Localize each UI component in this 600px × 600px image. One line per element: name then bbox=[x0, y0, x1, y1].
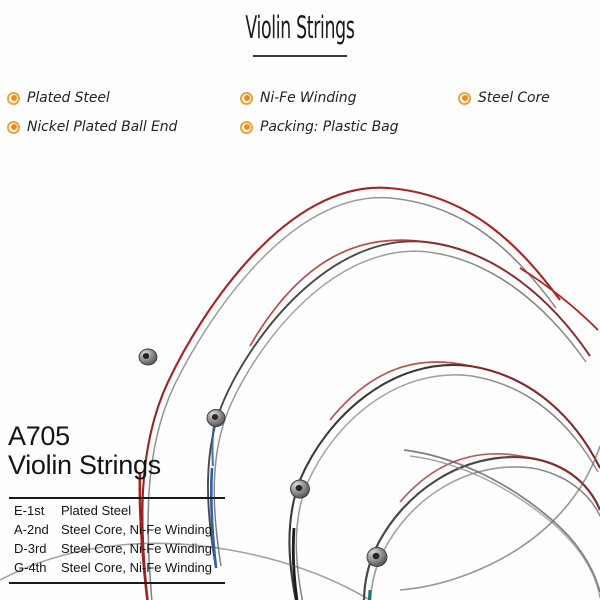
feature-label: Plated Steel bbox=[27, 90, 110, 106]
feature-label: Steel Core bbox=[478, 90, 550, 106]
title-block: Violin Strings bbox=[0, 10, 600, 57]
feature-list: Plated Steel Nickel Plated Ball End Ni-F… bbox=[0, 86, 600, 142]
table-row: E-1st Plated Steel bbox=[9, 503, 225, 522]
model-name: Violin Strings bbox=[8, 451, 161, 481]
model-block: A705 Violin Strings bbox=[8, 422, 161, 480]
list-item: Steel Core bbox=[458, 86, 550, 110]
string-coil-d bbox=[289, 362, 600, 600]
feature-column-1: Plated Steel Nickel Plated Ball End bbox=[7, 86, 177, 144]
model-code: A705 bbox=[8, 422, 161, 451]
spec-gauge: G-4th bbox=[9, 560, 61, 575]
list-item: Plated Steel bbox=[7, 86, 177, 110]
spec-gauge: E-1st bbox=[9, 503, 61, 518]
ball-end-a bbox=[207, 410, 225, 427]
spec-description: Steel Core, Ni-Fe Winding bbox=[61, 541, 212, 556]
table-row: D-3rd Steel Core, Ni-Fe Winding bbox=[9, 541, 225, 560]
string-coil-g bbox=[364, 454, 600, 600]
page-title: Violin Strings bbox=[114, 10, 486, 47]
string-coil-a bbox=[208, 240, 590, 568]
feature-column-2: Ni-Fe Winding Packing: Plastic Bag bbox=[240, 86, 398, 144]
list-item: Nickel Plated Ball End bbox=[7, 115, 177, 139]
spec-description: Steel Core, Ni-Fe Winding bbox=[61, 522, 212, 537]
feature-label: Ni-Fe Winding bbox=[260, 90, 356, 106]
spec-description: Plated Steel bbox=[61, 503, 131, 518]
spec-gauge: A-2nd bbox=[9, 522, 61, 537]
feature-label: Nickel Plated Ball End bbox=[27, 119, 177, 135]
spec-gauge: D-3rd bbox=[9, 541, 61, 556]
list-item: Packing: Plastic Bag bbox=[240, 115, 398, 139]
orange-bullet-icon bbox=[7, 121, 20, 134]
list-item: Ni-Fe Winding bbox=[240, 86, 398, 110]
orange-bullet-icon bbox=[7, 92, 20, 105]
orange-bullet-icon bbox=[240, 92, 253, 105]
ball-end-g bbox=[367, 548, 387, 567]
feature-label: Packing: Plastic Bag bbox=[260, 119, 398, 135]
specification-table: E-1st Plated Steel A-2nd Steel Core, Ni-… bbox=[9, 497, 225, 584]
table-row: G-4th Steel Core, Ni-Fe Winding bbox=[9, 560, 225, 579]
ball-end-e bbox=[139, 349, 157, 365]
title-divider bbox=[253, 55, 347, 57]
orange-bullet-icon bbox=[458, 92, 471, 105]
product-info-card: Violin Strings Plated Steel Nickel Plate… bbox=[0, 0, 600, 600]
orange-bullet-icon bbox=[240, 121, 253, 134]
table-row: A-2nd Steel Core, Ni-Fe Winding bbox=[9, 522, 225, 541]
spec-description: Steel Core, Ni-Fe Winding bbox=[61, 560, 212, 575]
feature-column-3: Steel Core bbox=[458, 86, 550, 115]
ball-end-d bbox=[291, 480, 310, 498]
